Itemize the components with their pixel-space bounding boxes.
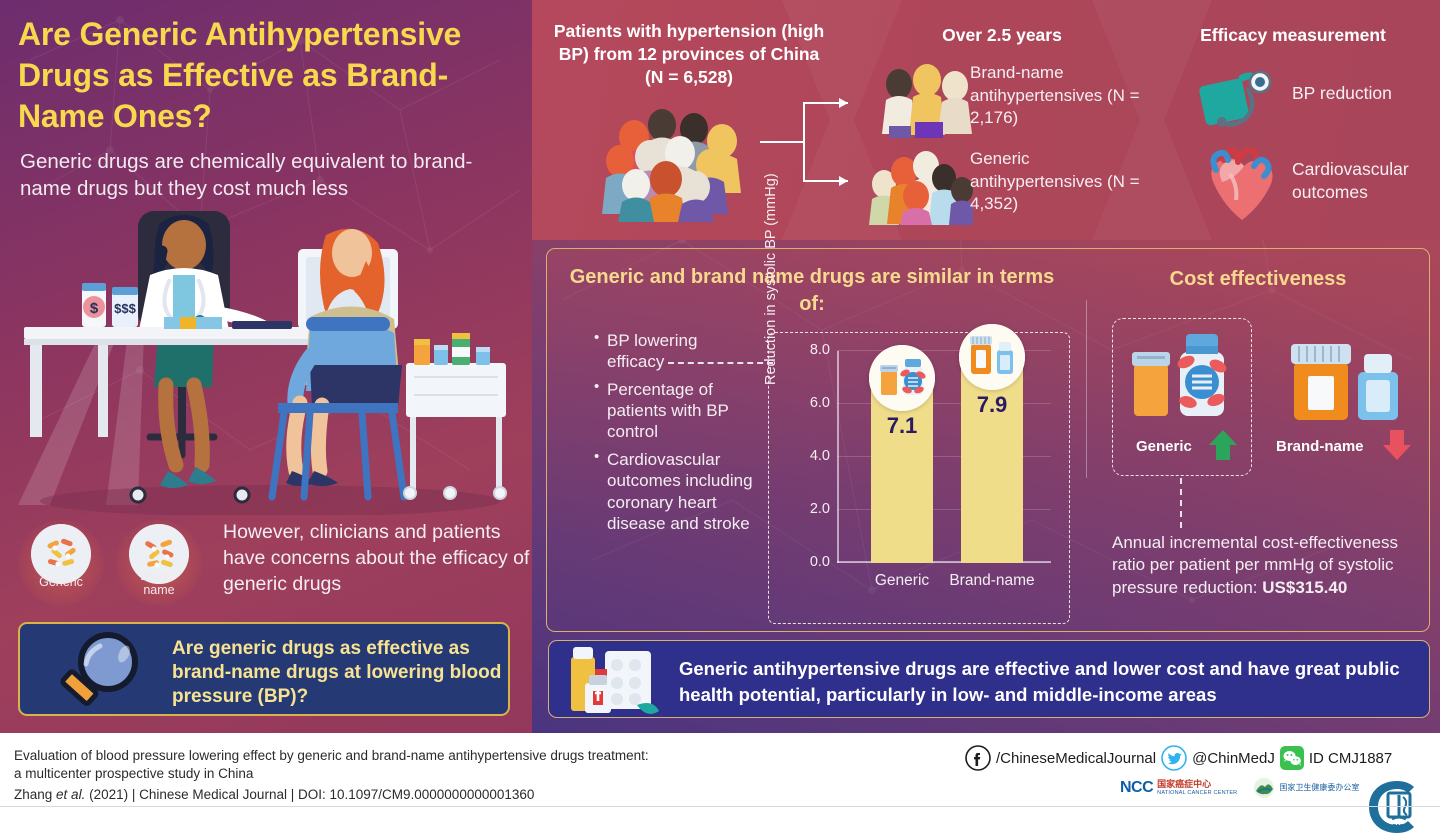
- partner-logos: NCC 国家癌症中心 NATIONAL CANCER CENTER 国家卫生健康…: [1120, 777, 1359, 799]
- wechat-icon[interactable]: [1280, 746, 1304, 770]
- facebook-handle[interactable]: /ChineseMedicalJournal: [996, 750, 1156, 767]
- bullet-to-chart-connector: [668, 362, 773, 364]
- list-item: BP lowering efficacy: [594, 330, 754, 372]
- results-title: Generic and brand name drugs are similar…: [562, 264, 1062, 318]
- cost-label-generic: Generic: [1136, 438, 1192, 455]
- research-question-box: Are generic drugs as effective as brand-…: [18, 622, 510, 716]
- chart-y-axis: [837, 351, 839, 563]
- infographic-poster: Are Generic Antihypertensive Drugs as Ef…: [0, 0, 1440, 810]
- cost-section-divider: [1086, 300, 1087, 478]
- measure-label-cv: Cardiovascular outcomes: [1292, 158, 1440, 204]
- ncc-logo: NCC 国家癌症中心 NATIONAL CANCER CENTER: [1120, 779, 1237, 797]
- pill-bottle-pair-icon: [959, 324, 1025, 390]
- efficacy-measurement-heading: Efficacy measurement: [1158, 24, 1428, 47]
- cn-office-logo: 国家卫生健康委办公室: [1253, 777, 1359, 799]
- list-item: Percentage of patients with BP control: [594, 379, 754, 442]
- y-tick-label: 8.0: [810, 342, 830, 358]
- bar-generic: 7.1 Generic: [871, 375, 933, 563]
- doctor-patient-consultation-illustration: $ $$$: [10, 205, 530, 515]
- citation-title: Evaluation of blood pressure lowering ef…: [14, 747, 654, 783]
- research-question-text: Are generic drugs as effective as brand-…: [172, 637, 502, 709]
- measure-label-bp: BP reduction: [1292, 82, 1440, 105]
- generic-pill-badge: Generic: [18, 520, 104, 606]
- cmj-logo: CMJ: [1366, 779, 1428, 835]
- cost-effectiveness-title: Cost effectiveness: [1108, 268, 1408, 291]
- arm-label-generic: Generic antihypertensives (N = 4,352): [970, 148, 1165, 216]
- list-item: Cardiovascular outcomes including corona…: [594, 449, 754, 533]
- bar-value-generic: 7.1: [871, 413, 933, 439]
- cost-note-connector: [1180, 478, 1182, 528]
- conclusion-text: Generic antihypertensive drugs are effec…: [679, 656, 1419, 707]
- y-tick-label: 0.0: [810, 554, 830, 570]
- twitter-handle[interactable]: @ChinMedJ: [1192, 750, 1275, 767]
- facebook-icon[interactable]: [965, 745, 991, 771]
- svg-text:$$$: $$$: [114, 301, 136, 316]
- cn-office-logo-cn: 国家卫生健康委办公室: [1279, 783, 1359, 793]
- chart-y-axis-label: Reduction in systolic BP (mmHg): [763, 205, 779, 385]
- arrow-down-icon: [1382, 428, 1412, 462]
- conclusion-banner: Generic antihypertensive drugs are effec…: [548, 640, 1430, 718]
- wechat-handle[interactable]: ID CMJ1887: [1309, 750, 1392, 767]
- bp-reduction-bar-chart: Reduction in systolic BP (mmHg) 0.0 2.0 …: [768, 332, 1070, 624]
- cost-label-brand: Brand-name: [1276, 438, 1364, 455]
- generic-vs-brand-badges: Generic: [18, 520, 528, 615]
- mountain-leaf-icon: [1253, 777, 1275, 799]
- arrow-up-icon: [1208, 428, 1238, 462]
- study-duration-heading: Over 2.5 years: [872, 24, 1132, 47]
- cmj-logo-text: CMJ: [1392, 824, 1407, 831]
- blood-pressure-cuff-icon: [1198, 68, 1274, 130]
- bar-value-brand: 7.9: [961, 392, 1023, 418]
- crowd-of-people-icon: [600, 95, 760, 225]
- population-heading: Patients with hypertension (high BP) fro…: [548, 20, 830, 88]
- magnifying-glass-icon: [42, 628, 160, 718]
- clinician-concern-text: However, clinicians and patients have co…: [223, 520, 543, 598]
- arm-label-brand: Brand-name antihypertensives (N = 2,176): [970, 62, 1165, 130]
- citation-etal: et al.: [56, 787, 85, 802]
- cost-note-value: US$315.40: [1262, 578, 1347, 597]
- group-of-people-icon: [868, 148, 973, 228]
- twitter-icon[interactable]: [1161, 745, 1187, 771]
- svg-text:$: $: [90, 300, 99, 317]
- group-of-people-icon: [875, 62, 980, 142]
- x-tick-label-brand: Brand-name: [937, 572, 1047, 590]
- page-subtitle: Generic drugs are chemically equivalent …: [20, 148, 490, 203]
- badge-label: Generic: [18, 576, 104, 590]
- cost-note-prefix: Annual incremental cost-effectiveness ra…: [1112, 533, 1398, 597]
- ncc-logo-cn: 国家癌症中心: [1157, 780, 1237, 790]
- y-tick-label: 6.0: [810, 395, 830, 411]
- brand-name-pill-badge: Brand- name: [116, 520, 202, 606]
- cost-effectiveness-note: Annual incremental cost-effectiveness ra…: [1112, 532, 1412, 599]
- badge-label: Brand- name: [116, 570, 202, 597]
- pill-bottle-pair-icon: [869, 345, 935, 411]
- y-tick-label: 4.0: [810, 448, 830, 464]
- footer-divider: [0, 806, 1440, 807]
- pill-bottle-pair-icon: [1288, 336, 1406, 426]
- citation-meta: Zhang et al. (2021) | Chinese Medical Jo…: [14, 787, 654, 802]
- y-tick-label: 2.0: [810, 501, 830, 517]
- ncc-logo-sub: NATIONAL CANCER CENTER: [1157, 790, 1237, 796]
- citation-journal-doi: (2021) | Chinese Medical Journal | DOI: …: [89, 787, 534, 802]
- ncc-logo-text: NCC: [1120, 779, 1153, 797]
- heart-anatomy-icon: [1198, 148, 1276, 224]
- citation-authors: Zhang: [14, 787, 52, 802]
- social-links: /ChineseMedicalJournal @ChinMedJ ID CMJ1…: [965, 743, 1392, 773]
- pill-bottle-pair-icon: [1128, 330, 1236, 426]
- page-title: Are Generic Antihypertensive Drugs as Ef…: [18, 14, 518, 137]
- chart-plot-area: 0.0 2.0 4.0 6.0 8.0: [837, 351, 1051, 563]
- bar-brand-name: 7.9 Brand-name: [961, 354, 1023, 563]
- footer: Evaluation of blood pressure lowering ef…: [0, 733, 1440, 810]
- medicine-bottles-icon: [559, 643, 669, 719]
